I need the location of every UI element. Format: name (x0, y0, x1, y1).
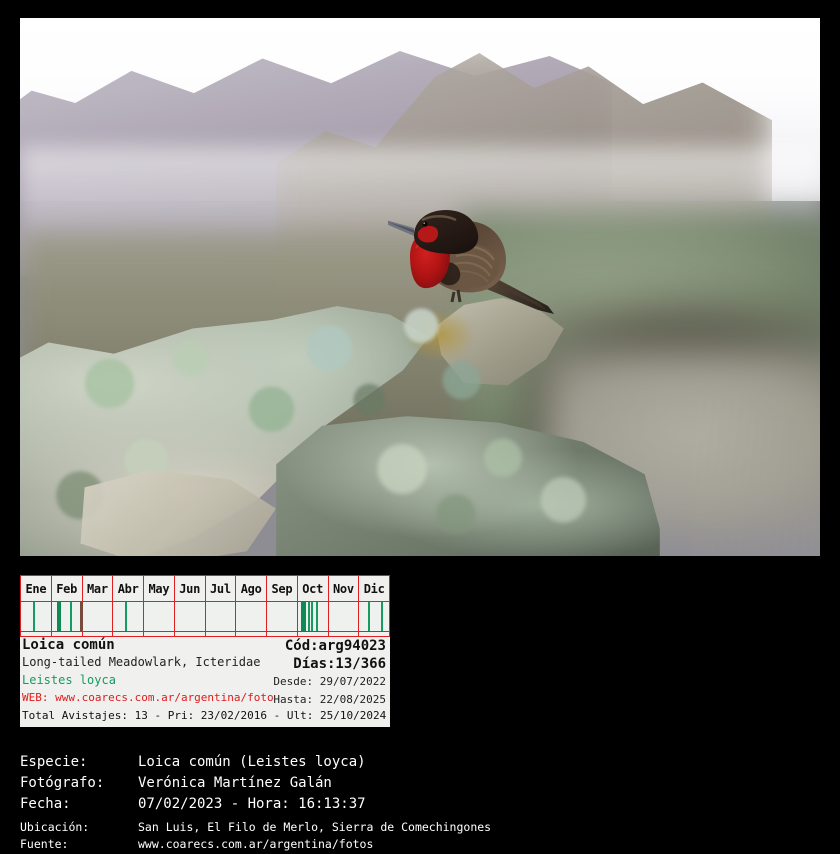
calendar-month-abr[interactable]: Abr (113, 576, 144, 601)
ubicacion-label: Ubicación: (20, 819, 138, 836)
photo-metadata: Especie: Loica común (Leistes loyca) Fot… (20, 752, 820, 853)
species-web-link[interactable]: WEB: www.coarecs.com.ar/argentina/foto (22, 691, 274, 704)
calendar-column-abr[interactable] (113, 602, 144, 631)
ubicacion-value: San Luis, El Filo de Merlo, Sierra de Co… (138, 819, 491, 836)
record-days: Días:13/366 (273, 655, 386, 673)
record-to: Hasta: 22/08/2025 (273, 691, 386, 709)
species-common-name: Loica común (22, 637, 115, 653)
species-total-sightings: Total Avistajes: 13 - Pri: 23/02/2016 - … (22, 709, 386, 722)
calendar-foot-abr (113, 632, 144, 636)
fecha-label: Fecha: (20, 794, 138, 815)
sighting-mark (316, 602, 318, 631)
calendar-foot-nov (329, 632, 360, 636)
blurred-grass-right (692, 395, 820, 556)
calendar-month-feb[interactable]: Feb (52, 576, 83, 601)
record-details: Loica común Long-tailed Meadowlark, Icte… (20, 637, 390, 727)
calendar-column-nov[interactable] (329, 602, 360, 631)
fotografo-label: Fotógrafo: (20, 773, 138, 794)
calendar-month-ago[interactable]: Ago (236, 576, 267, 601)
sighting-mark (311, 602, 313, 631)
species-scientific-name: Leistes loyca (22, 673, 116, 687)
calendar-foot-mar (83, 632, 114, 636)
calendar-month-oct[interactable]: Oct (298, 576, 329, 601)
sighting-mark (125, 602, 127, 631)
calendar-column-jul[interactable] (206, 602, 237, 631)
calendar-column-ene[interactable] (20, 602, 52, 631)
calendar-column-mar[interactable] (83, 602, 114, 631)
calendar-column-oct[interactable] (298, 602, 329, 631)
sighting-mark (70, 602, 72, 631)
calendar-column-sep[interactable] (267, 602, 298, 631)
record-code: Cód:arg94023 (273, 637, 386, 655)
calendar-foot-jun (175, 632, 206, 636)
meta-row-fecha: Fecha: 07/02/2023 - Hora: 16:13:37 (20, 794, 820, 815)
sighting-mark (368, 602, 370, 631)
calendar-sighting-bars (20, 602, 390, 632)
calendar-foot-ene (20, 632, 52, 636)
fuente-value[interactable]: www.coarecs.com.ar/argentina/fotos (138, 836, 373, 853)
sighting-mark (301, 602, 306, 631)
calendar-month-nov[interactable]: Nov (329, 576, 360, 601)
fecha-value: 07/02/2023 - Hora: 16:13:37 (138, 794, 366, 815)
record-right-column: Cód:arg94023 Días:13/366 Desde: 29/07/20… (273, 637, 386, 709)
record-from: Desde: 29/07/2022 (273, 673, 386, 691)
calendar-month-ene[interactable]: Ene (20, 576, 52, 601)
especie-label: Especie: (20, 752, 138, 773)
fotografo-value: Verónica Martínez Galán (138, 773, 332, 794)
calendar-foot-oct (298, 632, 329, 636)
calendar-month-dic[interactable]: Dic (359, 576, 390, 601)
calendar-foot-jul (206, 632, 237, 636)
sighting-mark (57, 602, 61, 631)
sighting-mark (33, 602, 35, 631)
meta-row-fuente: Fuente: www.coarecs.com.ar/argentina/fot… (20, 836, 820, 853)
calendar-column-feb[interactable] (52, 602, 83, 631)
calendar-foot-ago (236, 632, 267, 636)
species-info-panel: EneFebMarAbrMayJunJulAgoSepOctNovDic Loi… (20, 575, 390, 727)
especie-value: Loica común (Leistes loyca) (138, 752, 366, 773)
sighting-calendar: EneFebMarAbrMayJunJulAgoSepOctNovDic (20, 575, 390, 637)
calendar-month-mar[interactable]: Mar (83, 576, 114, 601)
bird-photograph (20, 18, 820, 556)
sighting-mark (308, 602, 310, 631)
meta-row-especie: Especie: Loica común (Leistes loyca) (20, 752, 820, 773)
calendar-foot-may (144, 632, 175, 636)
calendar-column-dic[interactable] (359, 602, 390, 631)
sighting-mark (381, 602, 383, 631)
calendar-month-may[interactable]: May (144, 576, 175, 601)
calendar-month-jul[interactable]: Jul (206, 576, 237, 601)
meta-row-fotografo: Fotógrafo: Verónica Martínez Galán (20, 773, 820, 794)
calendar-month-header: EneFebMarAbrMayJunJulAgoSepOctNovDic (20, 575, 390, 602)
calendar-column-may[interactable] (144, 602, 175, 631)
meta-row-ubicacion: Ubicación: San Luis, El Filo de Merlo, S… (20, 819, 820, 836)
species-english-name: Long-tailed Meadowlark, Icteridae (22, 655, 260, 669)
calendar-month-sep[interactable]: Sep (267, 576, 298, 601)
screenshot-root: EneFebMarAbrMayJunJulAgoSepOctNovDic Loi… (0, 0, 840, 854)
calendar-column-jun[interactable] (175, 602, 206, 631)
calendar-foot-sep (267, 632, 298, 636)
lichen-patches-lower (308, 427, 644, 556)
meadowlark-bird (388, 202, 558, 327)
calendar-column-ago[interactable] (236, 602, 267, 631)
calendar-foot-feb (52, 632, 83, 636)
calendar-foot-dic (359, 632, 390, 636)
fuente-label: Fuente: (20, 836, 138, 853)
calendar-month-jun[interactable]: Jun (175, 576, 206, 601)
